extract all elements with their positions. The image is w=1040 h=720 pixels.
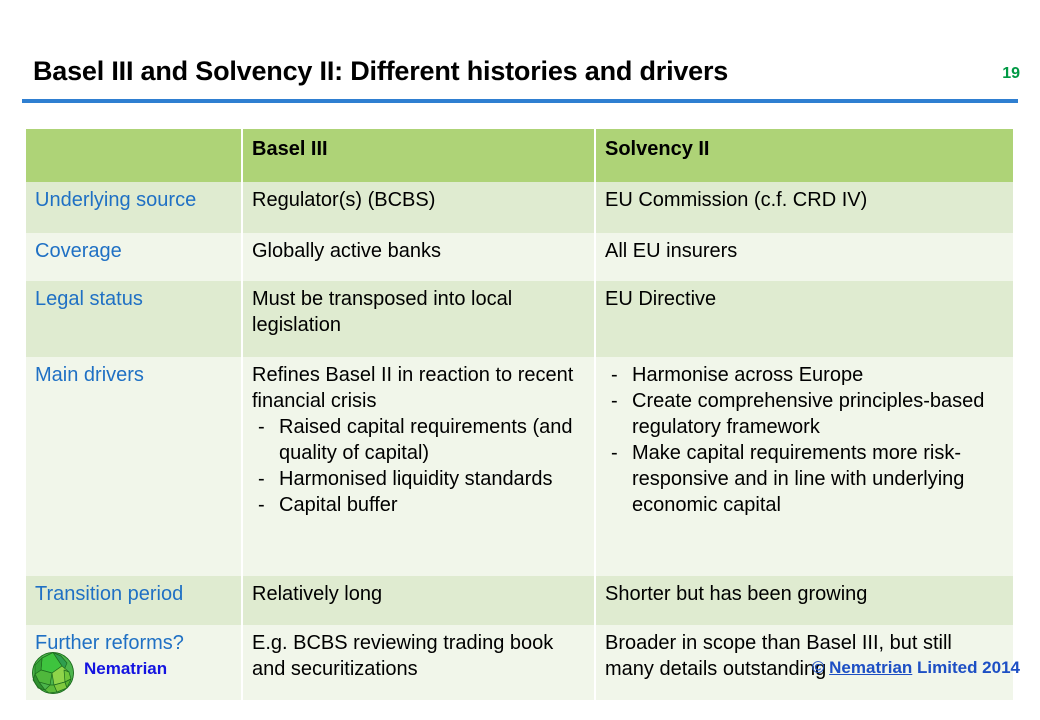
- table-header-basel-iii: Basel III: [242, 129, 595, 182]
- cell-basel-main-drivers: Refines Basel II in reaction to recent f…: [242, 357, 595, 576]
- list-item: Make capital requirements more risk-resp…: [605, 440, 1005, 518]
- nematrian-polyhedron-logo-icon: [28, 648, 78, 698]
- comparison-table: Basel III Solvency II Underlying source …: [26, 129, 1013, 700]
- cell-basel-transition-period: Relatively long: [242, 576, 595, 625]
- cell-solvency-main-drivers: Harmonise across EuropeCreate comprehens…: [595, 357, 1013, 576]
- row-label-transition-period: Transition period: [26, 576, 242, 625]
- table-row: Transition period Relatively long Shorte…: [26, 576, 1013, 625]
- cell-basel-further-reforms: E.g. BCBS reviewing trading book and sec…: [242, 625, 595, 700]
- footer-copyright: © Nematrian Limited 2014: [812, 658, 1020, 678]
- footer-brand-label: Nematrian: [84, 659, 167, 679]
- cell-solvency-underlying-source: EU Commission (c.f. CRD IV): [595, 182, 1013, 233]
- list-item: Harmonise across Europe: [605, 362, 1005, 388]
- page-number: 19: [1002, 65, 1020, 83]
- list-item: Raised capital requirements (and quality…: [252, 414, 586, 466]
- solvency-drivers-list: Harmonise across EuropeCreate comprehens…: [605, 362, 1005, 518]
- list-item: Create comprehensive principles-based re…: [605, 388, 1005, 440]
- row-label-main-drivers: Main drivers: [26, 357, 242, 576]
- row-label-legal-status: Legal status: [26, 281, 242, 357]
- table-header-solvency-ii: Solvency II: [595, 129, 1013, 182]
- basel-drivers-lead: Refines Basel II in reaction to recent f…: [252, 362, 586, 414]
- table-header-row: Basel III Solvency II: [26, 129, 1013, 182]
- table-row: Underlying source Regulator(s) (BCBS) EU…: [26, 182, 1013, 233]
- cell-solvency-legal-status: EU Directive: [595, 281, 1013, 357]
- cell-basel-legal-status: Must be transposed into local legislatio…: [242, 281, 595, 357]
- cell-solvency-coverage: All EU insurers: [595, 233, 1013, 281]
- list-item: Harmonised liquidity standards: [252, 466, 586, 492]
- nematrian-link[interactable]: Nematrian: [829, 658, 912, 677]
- row-label-underlying-source: Underlying source: [26, 182, 242, 233]
- table-header-blank: [26, 129, 242, 182]
- page-title: Basel III and Solvency II: Different his…: [33, 56, 728, 87]
- cell-solvency-transition-period: Shorter but has been growing: [595, 576, 1013, 625]
- title-divider: [22, 99, 1018, 103]
- cell-basel-underlying-source: Regulator(s) (BCBS): [242, 182, 595, 233]
- table-row: Coverage Globally active banks All EU in…: [26, 233, 1013, 281]
- basel-drivers-list: Raised capital requirements (and quality…: [252, 414, 586, 518]
- table-row: Legal status Must be transposed into loc…: [26, 281, 1013, 357]
- row-label-coverage: Coverage: [26, 233, 242, 281]
- cell-basel-coverage: Globally active banks: [242, 233, 595, 281]
- copyright-symbol: ©: [812, 658, 829, 677]
- table-row: Main drivers Refines Basel II in reactio…: [26, 357, 1013, 576]
- list-item: Capital buffer: [252, 492, 586, 518]
- copyright-suffix: Limited 2014: [912, 658, 1020, 677]
